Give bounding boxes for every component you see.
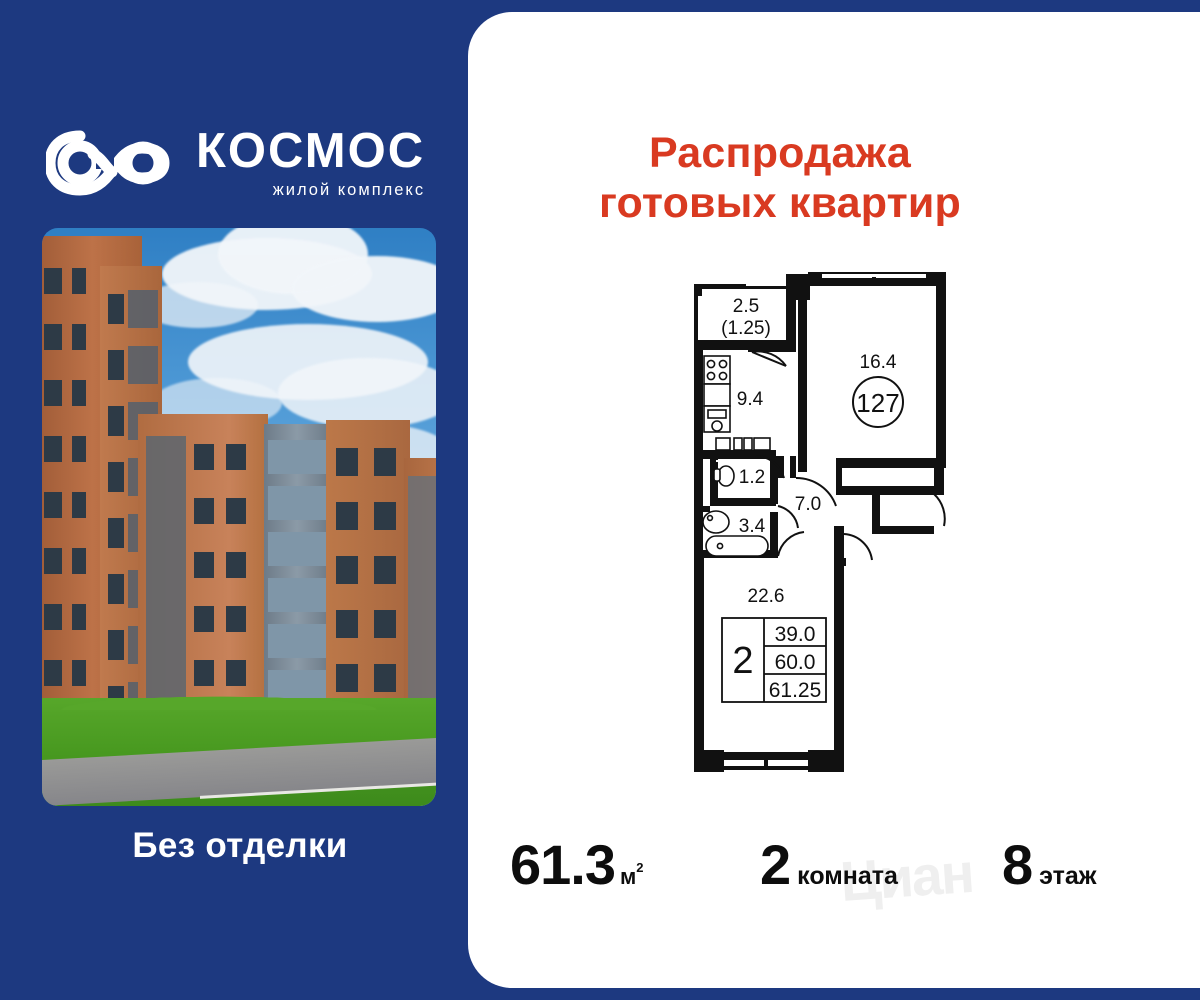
spec-area-value: 61.3 xyxy=(510,832,615,897)
bedroom-area: 22.6 xyxy=(748,586,785,607)
spec-floor-value: 8 xyxy=(1002,832,1032,897)
apartment-number-badge: 127 xyxy=(853,377,903,427)
brand-name: КОСМОС xyxy=(196,124,425,178)
spec-floor-label: этаж xyxy=(1039,862,1096,891)
spec-rooms: 2 комната xyxy=(760,832,898,897)
spec-area: 61.3 м2 xyxy=(510,832,644,897)
rooms-count: 2 xyxy=(732,640,753,682)
infinity-icon xyxy=(46,128,180,198)
spec-area-unit-text: м xyxy=(620,864,636,889)
wc-area: 1.2 xyxy=(739,467,765,488)
finish-caption: Без отделки xyxy=(0,826,480,866)
spec-area-unit: м2 xyxy=(620,864,644,890)
spec-rooms-value: 2 xyxy=(760,832,790,897)
apartment-number: 127 xyxy=(856,388,899,418)
bathroom-area: 3.4 xyxy=(739,516,766,537)
spec-floor: 8 этаж xyxy=(1002,832,1097,897)
living-room-area: 16.4 xyxy=(860,352,897,373)
floor-plan: 2.5 (1.25) 9.4 16.4 1.2 3.4 7.0 22.6 127 xyxy=(686,260,958,800)
apartment-specs: 61.3 м2 2 комната 8 этаж xyxy=(468,818,1200,918)
headline-line-2: готовых квартир xyxy=(468,178,1092,228)
balcony-area-line1: 2.5 xyxy=(733,296,759,317)
left-brand-panel: КОСМОС жилой комплекс xyxy=(0,0,480,1000)
total-area-no-balcony-value: 60.0 xyxy=(775,651,816,674)
spec-area-unit-sup: 2 xyxy=(636,860,643,875)
brand-tagline: жилой комплекс xyxy=(196,180,425,200)
page-title: Распродажа готовых квартир xyxy=(468,128,1092,228)
total-area-value: 61.25 xyxy=(769,679,822,702)
hallway-area: 7.0 xyxy=(795,494,821,515)
kitchen-area: 9.4 xyxy=(737,389,764,410)
plan-info-table: 2 39.0 60.0 61.25 xyxy=(722,618,826,702)
spec-rooms-label: комната xyxy=(797,862,898,891)
headline-line-1: Распродажа xyxy=(468,128,1092,178)
brand-logo: КОСМОС жилой комплекс xyxy=(46,118,446,214)
listing-card: Распродажа готовых квартир xyxy=(468,12,1200,988)
building-photo xyxy=(42,228,436,806)
living-area-value: 39.0 xyxy=(775,623,816,646)
balcony-area-line2: (1.25) xyxy=(721,318,771,339)
